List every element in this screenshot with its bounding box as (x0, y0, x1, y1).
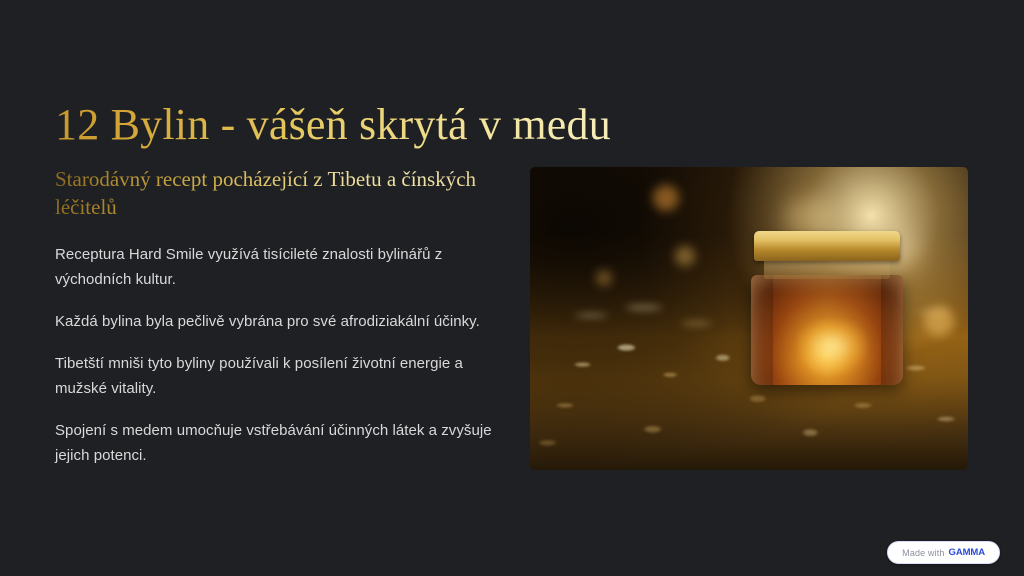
page-title: 12 Bylin - vášeň skrytá v medu (55, 99, 755, 151)
badge-brand-label: GAMMA (949, 547, 985, 558)
body-paragraph-4: Spojení s medem umocňuje vstřebávání úči… (55, 419, 495, 469)
bokeh-light (675, 246, 695, 266)
body-paragraph-2: Každá bylina byla pečlivě vybrána pro sv… (55, 310, 495, 335)
text-column: Starodávný recept pocházející z Tibetu a… (55, 166, 495, 469)
jar-lid (754, 231, 900, 261)
body-paragraph-1: Receptura Hard Smile využívá tisícileté … (55, 243, 495, 293)
jar-inner-glow (797, 319, 867, 373)
body-paragraph-3: Tibetští mniši tyto byliny používali k p… (55, 352, 495, 402)
section-subtitle: Starodávný recept pocházející z Tibetu a… (55, 166, 495, 221)
jar-facet-right (881, 275, 903, 385)
bokeh-light (653, 185, 679, 211)
slide-canvas: 12 Bylin - vášeň skrytá v medu Starodávn… (0, 0, 1024, 576)
badge-made-with-label: Made with (902, 548, 944, 558)
made-with-gamma-badge[interactable]: Made with GAMMA (887, 541, 1000, 564)
honey-jar-photo (530, 167, 968, 470)
jar-facet-left (751, 275, 773, 385)
honey-jar (751, 231, 903, 389)
